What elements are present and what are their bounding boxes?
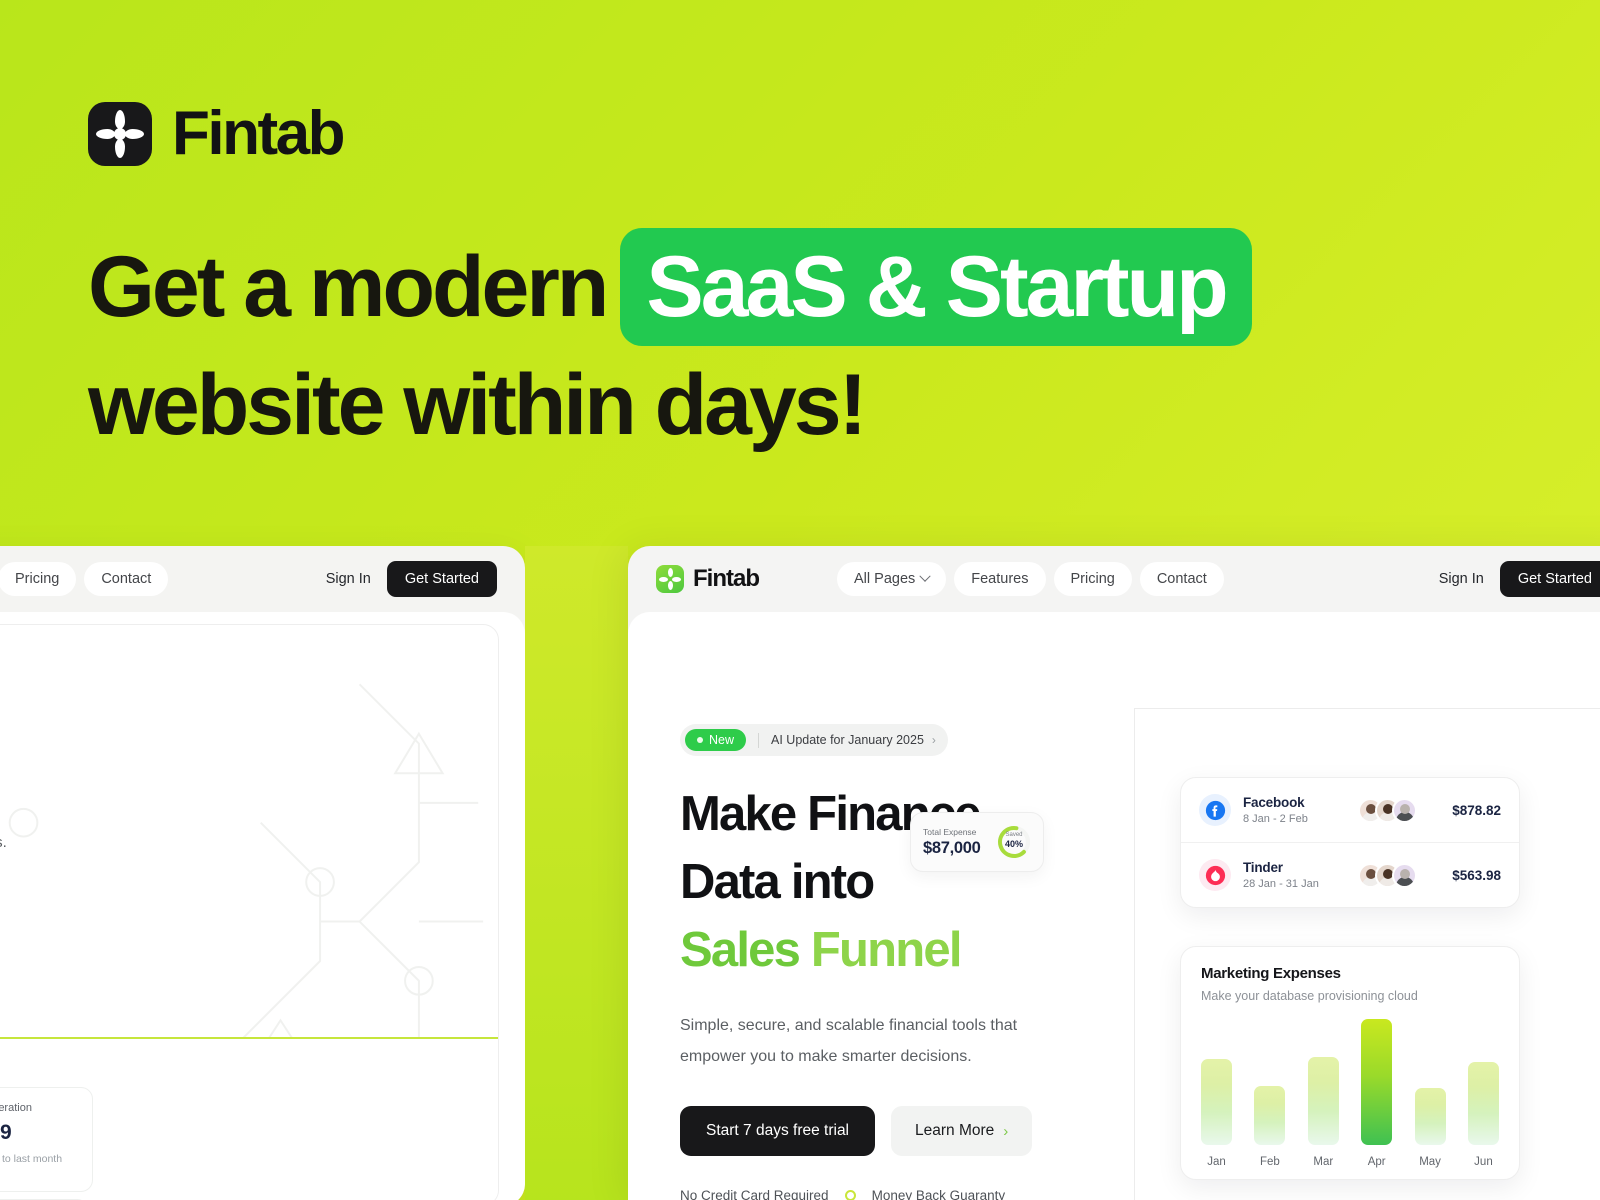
list-item-amount: $563.98 xyxy=(1443,868,1501,883)
hero-banner: Fintab Get a modernSaaS & Startup websit… xyxy=(0,0,1600,556)
bar xyxy=(1254,1086,1285,1145)
bar-label: Jun xyxy=(1468,1156,1499,1168)
bar-label: Jan xyxy=(1201,1156,1232,1168)
marketing-expenses-card: Marketing Expenses Make your database pr… xyxy=(1180,946,1520,1180)
avatar xyxy=(1392,863,1417,888)
nav-link-features-label: Features xyxy=(971,571,1028,587)
list-item-dates: 8 Jan - 2 Feb xyxy=(1243,813,1308,825)
bar xyxy=(1468,1062,1499,1145)
bar-slot xyxy=(1361,1019,1392,1145)
dot-icon xyxy=(697,737,703,743)
trust-money-back: Money Back Guaranty xyxy=(872,1188,1006,1200)
bar-label: Mar xyxy=(1308,1156,1339,1168)
learn-more-button[interactable]: Learn More › xyxy=(891,1106,1032,1156)
announcement-badge[interactable]: New AI Update for January 2025 › xyxy=(680,724,1100,756)
donut-value: 40% xyxy=(997,839,1031,849)
avatar xyxy=(1392,798,1417,823)
bar-slot xyxy=(1201,1019,1232,1145)
announcement-text: AI Update for January 2025 xyxy=(771,733,924,747)
hero-heading-line3-b: Funnel xyxy=(811,923,961,977)
bar-chart-xaxis: JanFebMarAprMayJun xyxy=(1201,1156,1499,1168)
hero-subtitle: Simple, secure, and scalable financial t… xyxy=(680,1010,1075,1072)
stat-value: 78,099 xyxy=(0,1121,76,1145)
nav-link-pricing[interactable]: Pricing xyxy=(1054,562,1132,596)
nav-brand-name: Fintab xyxy=(693,565,759,593)
hero-content: New AI Update for January 2025 › Make Fi… xyxy=(680,724,1100,1200)
start-free-trial-button[interactable]: Start 7 days free trial xyxy=(680,1106,875,1156)
brand-lockup: Fintab xyxy=(88,98,343,169)
tinder-icon xyxy=(1199,859,1231,891)
left-window-hero-card: ...trol of ...es Today ...l tools that e… xyxy=(0,624,499,1200)
bar xyxy=(1415,1088,1446,1145)
brand-name: Fintab xyxy=(172,98,343,169)
total-expense-chip: Total Expense $87,000 Saved 40% xyxy=(910,812,1044,872)
fintab-flower-icon xyxy=(656,565,684,593)
left-heading-line1: ...trol of xyxy=(0,685,285,747)
campaign-list-card: Facebook 8 Jan - 2 Feb $878.82 xyxy=(1180,777,1520,908)
bar-slot xyxy=(1254,1019,1285,1145)
stat-compare: Compared to last month xyxy=(0,1153,76,1165)
bar xyxy=(1361,1019,1392,1145)
total-expense-label: Total Expense xyxy=(923,827,981,837)
list-item-amount: $878.82 xyxy=(1443,803,1501,818)
left-nav-link-pricing[interactable]: Pricing xyxy=(0,562,76,596)
stat-card: Lead Generation 78,099 Compared to last … xyxy=(0,1087,93,1192)
left-hero-heading: ...trol of ...es Today ...l tools that e… xyxy=(0,685,285,932)
right-navbar: Fintab All Pages Features Pricing Contac… xyxy=(628,546,1600,612)
headline-part-1: Get a modern xyxy=(88,239,606,335)
bar xyxy=(1308,1057,1339,1145)
list-item-dates: 28 Jan - 31 Jan xyxy=(1243,878,1319,890)
learn-more-label: Learn More xyxy=(915,1122,994,1140)
fintab-flower-icon xyxy=(88,102,152,166)
list-item-name: Tinder xyxy=(1243,860,1319,875)
nav-link-all-pages-label: All Pages xyxy=(854,571,915,587)
left-dashboard-panel: Average Monthly Spending $54,010.27 Comp… xyxy=(0,1037,499,1200)
list-item[interactable]: Tinder 28 Jan - 31 Jan $563.98 xyxy=(1181,842,1519,907)
facebook-icon xyxy=(1199,794,1231,826)
total-expense-value: $87,000 xyxy=(923,839,981,858)
nav-link-features[interactable]: Features xyxy=(954,562,1045,596)
green-gap xyxy=(525,546,628,1200)
circle-icon xyxy=(845,1190,856,1200)
nav-link-all-pages[interactable]: All Pages xyxy=(837,562,946,596)
bar xyxy=(1201,1059,1232,1145)
bar-chart-plot xyxy=(1201,1019,1499,1145)
left-nav-link-contact[interactable]: Contact xyxy=(84,562,168,596)
chevron-right-icon: › xyxy=(1003,1123,1008,1140)
donut-label: Saved xyxy=(997,832,1031,838)
nav-link-contact[interactable]: Contact xyxy=(1140,562,1224,596)
avatar-stack xyxy=(1358,863,1417,888)
right-preview-window: Fintab All Pages Features Pricing Contac… xyxy=(628,546,1600,1200)
banner-headline: Get a modernSaaS & Startup website withi… xyxy=(88,228,1508,464)
left-navbar: Pricing Contact Sign In Get Started xyxy=(0,546,525,612)
new-pill-label: New xyxy=(709,733,734,747)
nav-brand-lockup[interactable]: Fintab xyxy=(656,565,759,593)
sign-in-link[interactable]: Sign In xyxy=(1439,571,1484,587)
list-item[interactable]: Facebook 8 Jan - 2 Feb $878.82 xyxy=(1181,778,1519,842)
new-pill: New xyxy=(685,729,746,751)
bar-slot xyxy=(1308,1019,1339,1145)
bar-label: May xyxy=(1415,1156,1446,1168)
nav-link-contact-label: Contact xyxy=(1157,571,1207,587)
nav-link-pricing-label: Pricing xyxy=(1071,571,1115,587)
get-started-button[interactable]: Get Started xyxy=(1500,561,1600,597)
headline-part-2: website within days! xyxy=(88,346,1508,464)
chart-title: Marketing Expenses xyxy=(1201,965,1499,982)
chevron-right-icon: › xyxy=(932,733,936,747)
trust-row: No Credit Card Required Money Back Guara… xyxy=(680,1188,1100,1200)
hero-cta-row: Start 7 days free trial Learn More › xyxy=(680,1106,1100,1156)
avatar-stack xyxy=(1358,798,1417,823)
bar-label: Apr xyxy=(1361,1156,1392,1168)
hero-heading-line3-a: Sales xyxy=(680,923,799,977)
hero-heading: Make Finance Data into Sales Funnel xyxy=(680,780,1100,984)
list-item-name: Facebook xyxy=(1243,795,1308,810)
right-window-body: New AI Update for January 2025 › Make Fi… xyxy=(628,612,1600,1200)
left-nav-link-pricing-label: Pricing xyxy=(15,571,59,587)
trust-no-credit-card: No Credit Card Required xyxy=(680,1188,829,1200)
left-sign-in-link[interactable]: Sign In xyxy=(326,571,371,587)
screenshot-root: Fintab Get a modernSaaS & Startup websit… xyxy=(0,0,1600,1200)
left-window-body: ...trol of ...es Today ...l tools that e… xyxy=(0,612,525,1200)
left-stat-cards: Average Monthly Spending $54,010.27 Comp… xyxy=(0,1087,93,1192)
left-preview-window: Pricing Contact Sign In Get Started xyxy=(0,546,525,1200)
bar-label: Feb xyxy=(1254,1156,1285,1168)
left-hero-subtitle: ...l tools that empower you ...cisions. xyxy=(0,829,185,857)
divider xyxy=(758,733,759,748)
stat-label: Lead Generation xyxy=(0,1102,76,1114)
chart-subtitle: Make your database provisioning cloud xyxy=(1201,989,1499,1003)
chevron-down-icon xyxy=(920,571,931,582)
left-nav-link-contact-label: Contact xyxy=(101,571,151,587)
headline-highlight: SaaS & Startup xyxy=(620,228,1251,346)
bar-slot xyxy=(1415,1019,1446,1145)
bar-slot xyxy=(1468,1019,1499,1145)
saved-donut-chart: Saved 40% xyxy=(997,825,1031,859)
left-get-started-button[interactable]: Get Started xyxy=(387,561,497,597)
